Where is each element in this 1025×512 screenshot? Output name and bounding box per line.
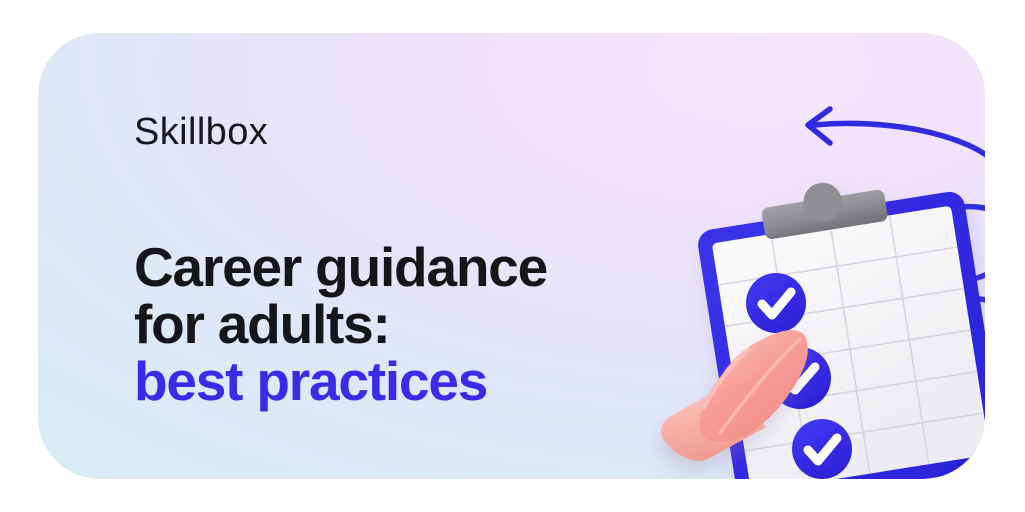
page-title: Career guidance for adults: best practic… [134,239,654,411]
check-circle-icon-3 [792,419,852,479]
brand-logo-skillbox[interactable]: Skillbox [134,111,268,154]
headline-line-3-accent: best practices [134,353,654,410]
headline-line-1: Career guidance [134,239,654,296]
promo-banner: Skillbox Career guidance for adults: bes… [0,0,1025,512]
clipboard-illustration [608,53,985,479]
headline-line-2: for adults: [134,296,654,353]
check-circle-icon-1 [746,273,806,333]
gradient-card: Skillbox Career guidance for adults: bes… [38,33,985,479]
